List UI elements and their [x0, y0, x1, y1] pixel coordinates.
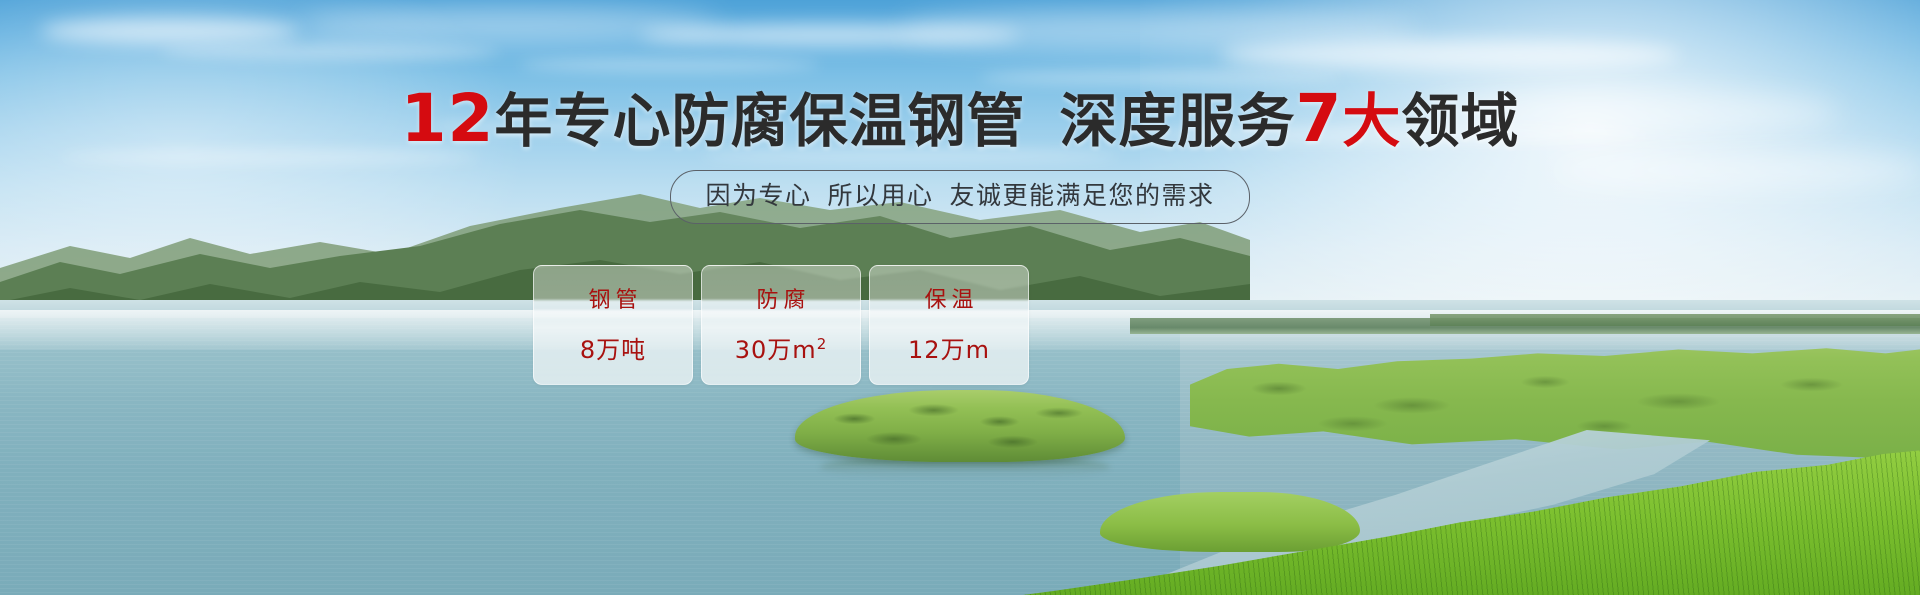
stat-card-anticorrosion: 防腐 30万m2	[701, 265, 861, 385]
banner-headline: 12年专心防腐保温钢管深度服务7大领域	[0, 86, 1920, 154]
stat-card-value-text: 12万m	[908, 336, 990, 364]
banner-subtitle-wrapper: 因为专心所以用心友诚更能满足您的需求	[0, 170, 1920, 224]
subtitle-segment-2: 所以用心	[827, 181, 933, 210]
headline-part-one: 专心防腐保温钢管	[553, 87, 1025, 155]
headline-fields-number: 7	[1295, 80, 1342, 157]
headline-part-three: 领域	[1401, 87, 1519, 155]
stat-card-steel-pipe: 钢管 8万吨	[533, 265, 693, 385]
stat-card-value: 8万吨	[580, 329, 646, 365]
stat-card-value-superscript: 2	[817, 335, 828, 353]
stat-card-insulation: 保温 12万m	[869, 265, 1029, 385]
stat-card-value-text: 30万m	[735, 336, 817, 364]
stat-card-value: 30万m2	[735, 329, 827, 365]
stat-card-label: 保温	[919, 286, 978, 316]
stat-card-label: 钢管	[583, 286, 642, 316]
headline-years-number: 12	[401, 80, 495, 157]
subtitle-segment-3: 友诚更能满足您的需求	[950, 181, 1215, 210]
headline-part-two: 深度服务	[1059, 87, 1295, 155]
headline-fields-unit: 大	[1342, 87, 1401, 155]
headline-years-unit: 年	[494, 87, 553, 155]
promo-banner: 12年专心防腐保温钢管深度服务7大领域 因为专心所以用心友诚更能满足您的需求 钢…	[0, 0, 1920, 595]
stat-card-value: 12万m	[908, 329, 990, 365]
banner-subtitle-pill: 因为专心所以用心友诚更能满足您的需求	[670, 170, 1249, 224]
stat-card-value-text: 8万吨	[580, 336, 646, 364]
subtitle-segment-1: 因为专心	[705, 181, 811, 210]
stat-card-label: 防腐	[751, 286, 810, 316]
far-shoreline-secondary	[1430, 314, 1920, 326]
stat-cards-group: 钢管 8万吨 防腐 30万m2 保温 12万m	[533, 265, 1029, 385]
